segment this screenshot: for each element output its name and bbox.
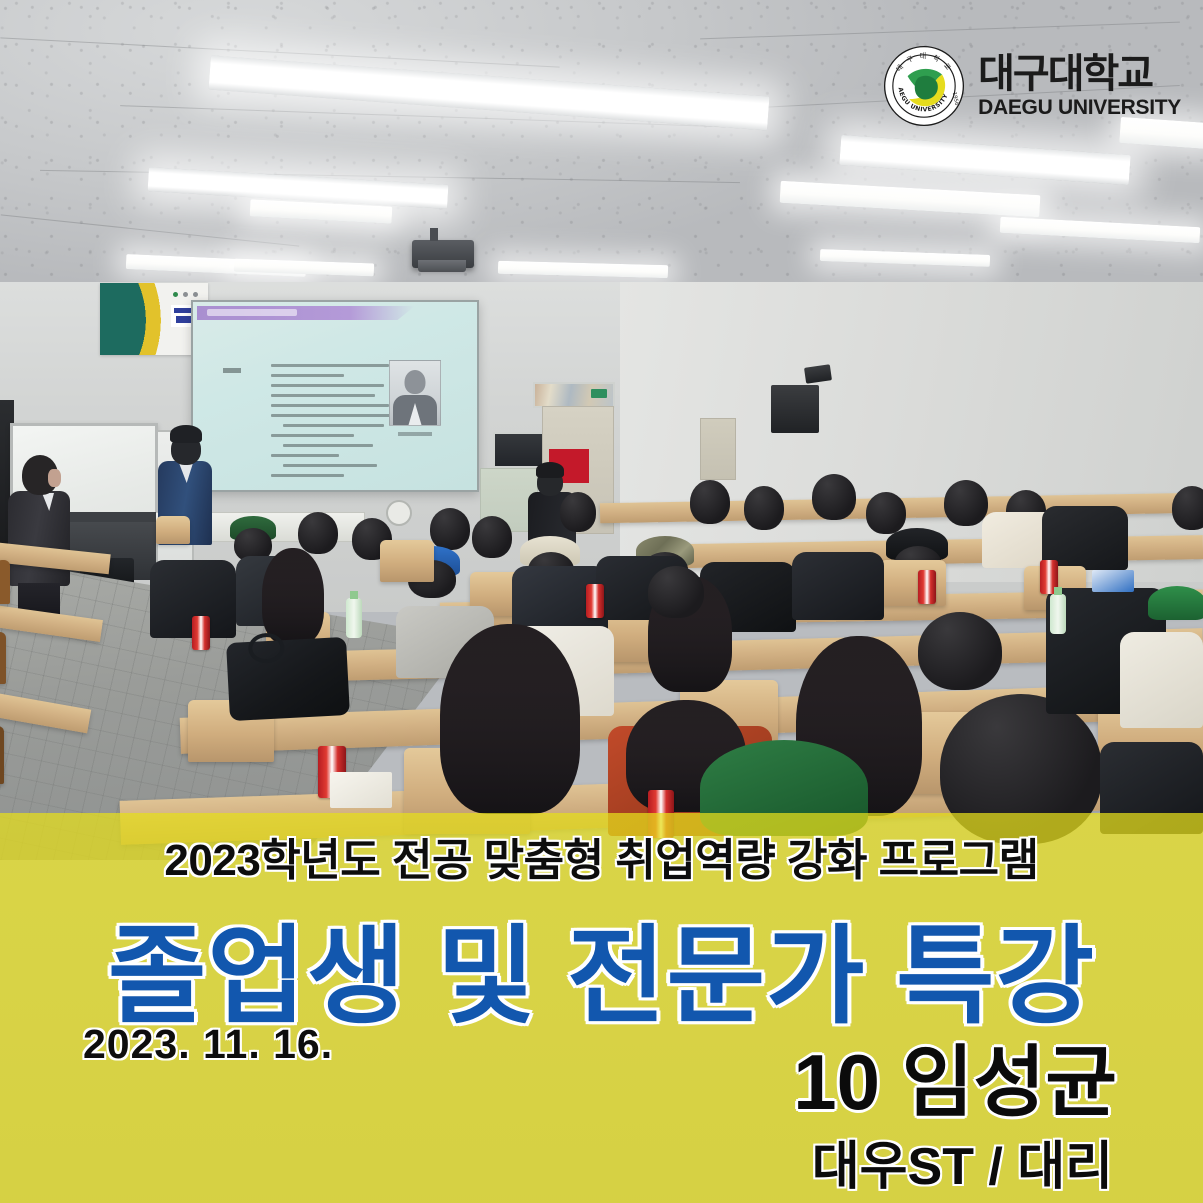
wall-notice-board <box>700 418 736 480</box>
projector <box>412 240 474 268</box>
student-head <box>812 474 856 520</box>
student-head <box>1172 486 1203 530</box>
program-subtitle: 2023학년도 전공 맞춤형 취업역량 강화 프로그램 <box>0 824 1203 888</box>
student-long-hair <box>262 548 324 644</box>
paper-wrapper <box>330 772 392 808</box>
slide-side-label <box>223 368 241 373</box>
slide-header-bar <box>197 306 415 320</box>
slide-portrait-photo <box>389 360 441 426</box>
transom-window <box>533 382 615 408</box>
desk-object <box>1092 570 1134 592</box>
banner-swoosh <box>100 283 182 355</box>
backpack <box>226 637 350 721</box>
speaker-affiliation: 대우ST / 대리 <box>812 1124 1113 1199</box>
student-head <box>918 612 1002 690</box>
student-body-light <box>1120 632 1203 728</box>
chair-back <box>880 560 946 606</box>
exit-sign-icon <box>591 389 607 398</box>
university-seal-icon: 대 구 대 학 교 DAEGU UNIVERSITY 1956 <box>883 45 965 127</box>
student-head <box>744 486 784 530</box>
projector-screen <box>191 300 479 492</box>
banner-dot-icon <box>193 292 198 297</box>
slide-text-block <box>271 364 389 484</box>
student-body <box>792 552 884 620</box>
side-chair <box>0 560 10 604</box>
side-chair <box>0 632 6 684</box>
student-green-cap <box>1148 586 1203 620</box>
student-head <box>430 508 470 550</box>
poster-root: 2023학년도 전공 맞춤형 취업역량 강화 프로그램 졸업생 및 전문가 특강… <box>0 0 1203 1203</box>
drink-bottle <box>346 598 362 638</box>
coke-can <box>192 616 210 650</box>
student-head <box>866 492 906 534</box>
banner-dot-icon <box>183 292 188 297</box>
student-head <box>690 480 730 524</box>
speaker-name: 10 임성균 <box>793 1020 1117 1132</box>
student-head <box>472 516 512 558</box>
wall-clock-icon <box>386 500 412 526</box>
coke-can <box>918 570 936 604</box>
student-head <box>944 480 988 526</box>
event-date: 2023. 11. 16. <box>83 1021 333 1068</box>
side-chair <box>0 726 4 784</box>
chair-back <box>380 540 434 582</box>
banner-dot-icon <box>173 292 178 297</box>
staff-person-suit <box>8 455 70 615</box>
chair-back <box>156 516 190 544</box>
slide-portrait-caption <box>398 432 432 436</box>
student-long-hair <box>440 624 580 814</box>
student-head <box>648 566 704 618</box>
logo-wordmark: 대구대학교 DAEGU UNIVERSITY <box>978 54 1181 118</box>
daegu-university-logo: 대 구 대 학 교 DAEGU UNIVERSITY 1956 대구대학교 DA… <box>883 45 1181 127</box>
coke-can <box>586 584 604 618</box>
logo-name-en: DAEGU UNIVERSITY <box>978 97 1181 118</box>
logo-name-kr: 대구대학교 <box>978 54 1181 94</box>
wall-speaker <box>771 385 819 433</box>
student-head <box>298 512 338 554</box>
student-head <box>560 492 596 532</box>
banner-text-group: 2023학년도 전공 맞춤형 취업역량 강화 프로그램 졸업생 및 전문가 특강… <box>0 813 1203 1203</box>
drink-bottle <box>1050 594 1066 634</box>
